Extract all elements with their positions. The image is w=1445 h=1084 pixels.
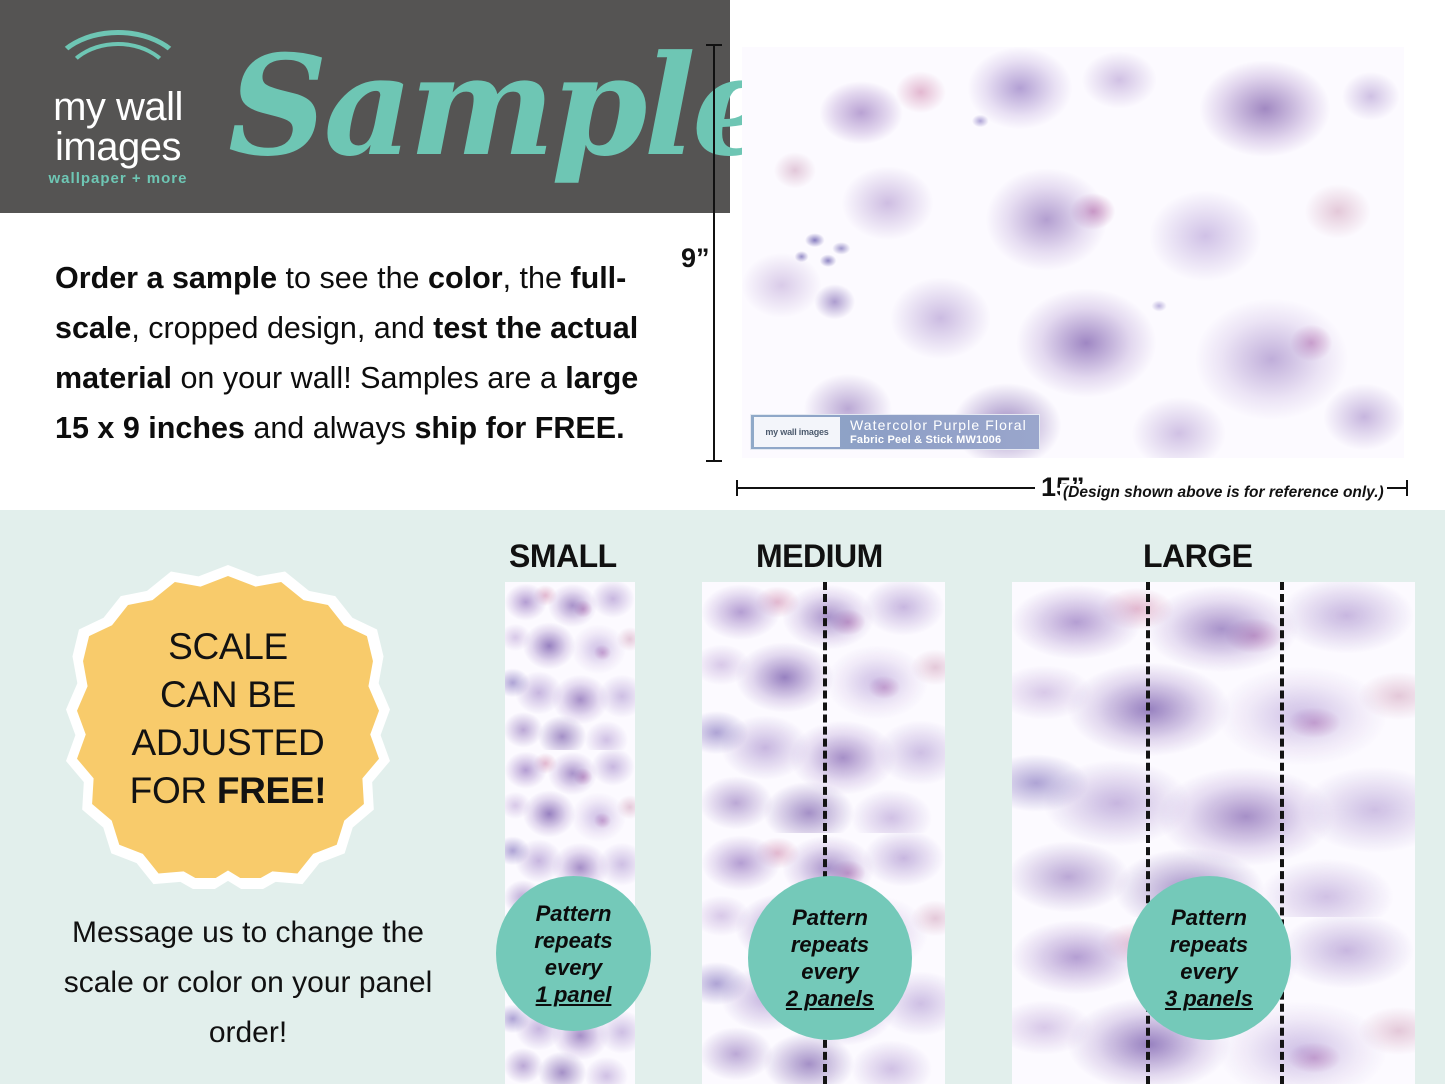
tag-design-name: Watercolor Purple Floral xyxy=(850,418,1027,433)
tag-brand-logo: my wall images xyxy=(754,417,840,447)
repeat-line-3: every xyxy=(1180,958,1238,985)
badge-text: SCALECAN BEADJUSTEDFOR FREE! xyxy=(66,623,390,815)
repeat-line-2: repeats xyxy=(791,931,869,958)
repeat-badge-medium: Pattern repeats every 2 panels xyxy=(748,876,912,1040)
message-us-text: Message us to change the scale or color … xyxy=(38,908,458,1058)
repeat-count: 3 panels xyxy=(1165,985,1253,1012)
repeat-badge-small: Pattern repeats every 1 panel xyxy=(496,876,651,1031)
intro-paragraph: Order a sample to see the color, the ful… xyxy=(55,253,675,453)
repeat-line-2: repeats xyxy=(1170,931,1248,958)
panel-label-small: SMALL xyxy=(509,538,617,575)
height-dimension-line xyxy=(713,44,715,462)
panel-divider-line xyxy=(1280,582,1284,1084)
page-title: Samples xyxy=(228,8,708,208)
repeat-line-2: repeats xyxy=(534,927,612,954)
floral-accent-specks xyxy=(742,47,1404,458)
repeat-badge-large: Pattern repeats every 3 panels xyxy=(1127,876,1291,1040)
height-dimension-label: 9” xyxy=(681,243,710,274)
repeat-line-1: Pattern xyxy=(1171,904,1247,931)
sample-preview-image: my wall images Watercolor Purple Floral … xyxy=(742,47,1404,458)
panel-label-medium: MEDIUM xyxy=(756,538,883,575)
logo-tagline: wallpaper + more xyxy=(18,170,218,187)
repeat-count: 1 panel xyxy=(536,981,612,1008)
logo-line-1: my wall xyxy=(18,86,218,128)
repeat-line-3: every xyxy=(545,954,603,981)
reference-note: (Design shown above is for reference onl… xyxy=(1060,484,1387,502)
scale-adjust-badge: SCALECAN BEADJUSTEDFOR FREE! xyxy=(66,565,390,889)
header-bar: my wall images wallpaper + more Samples xyxy=(0,0,730,213)
brand-logo: my wall images wallpaper + more xyxy=(18,28,218,200)
repeat-line-1: Pattern xyxy=(792,904,868,931)
logo-line-2: images xyxy=(18,126,218,168)
repeat-count: 2 panels xyxy=(786,985,874,1012)
tag-material-sku: Fabric Peel & Stick MW1006 xyxy=(850,433,1027,447)
repeat-line-1: Pattern xyxy=(536,900,612,927)
repeat-line-3: every xyxy=(801,958,859,985)
sample-info-graphic: my wall images wallpaper + more Samples … xyxy=(0,0,1445,1084)
design-info-tag: my wall images Watercolor Purple Floral … xyxy=(750,414,1040,450)
panel-label-large: LARGE xyxy=(1143,538,1253,575)
